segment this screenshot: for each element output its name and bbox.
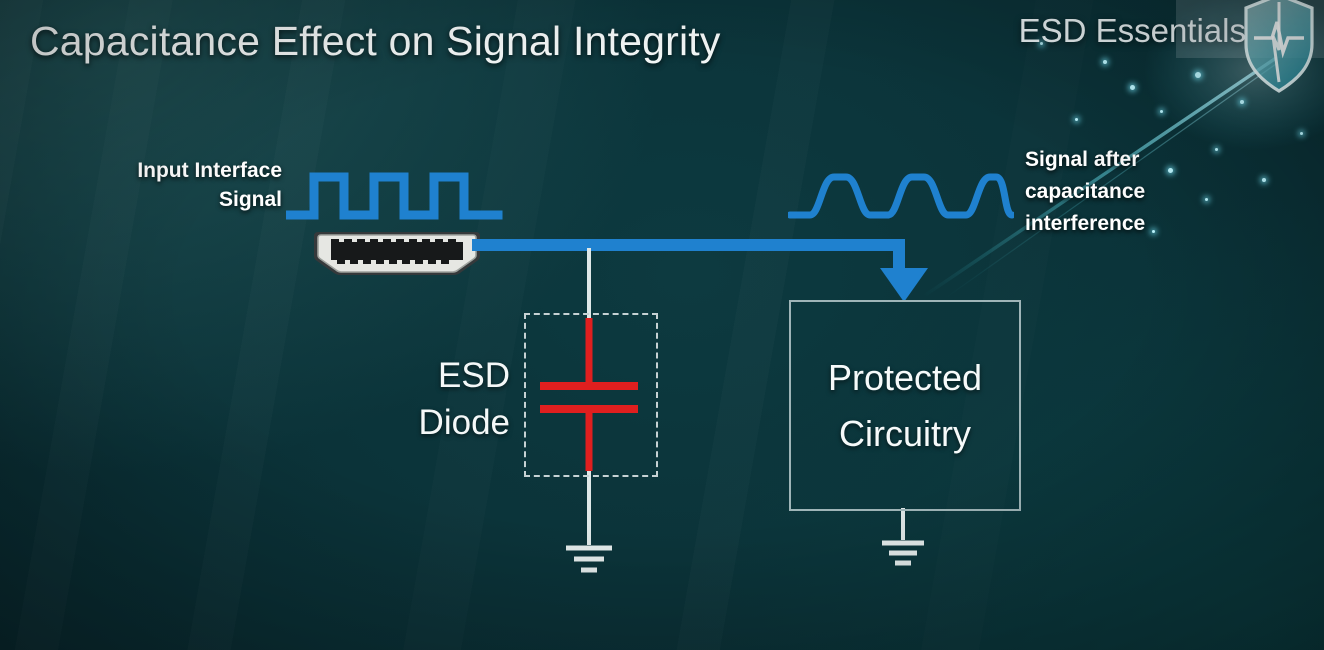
esd-diode-label-line1: ESD (380, 352, 510, 399)
ground-symbol-icon (882, 543, 924, 563)
protected-circuitry-box: Protected Circuitry (789, 300, 1021, 511)
particle-dot (1160, 110, 1163, 113)
hdmi-connector-icon (310, 228, 484, 280)
square-wave-icon (286, 165, 512, 227)
particle-dot (1195, 72, 1201, 78)
particle-dot (1075, 118, 1078, 121)
input-signal-label: Input Interface Signal (52, 156, 282, 214)
input-signal-label-line1: Input Interface (52, 156, 282, 185)
slide-canvas: Capacitance Effect on Signal Integrity E… (0, 0, 1324, 650)
circuit-wiring (0, 0, 1324, 650)
background-texture (0, 0, 1324, 650)
output-signal-label-line2: capacitance (1025, 176, 1255, 208)
protected-circuitry-line1: Protected (828, 350, 982, 406)
vignette-overlay (0, 0, 1324, 650)
output-signal-label-line1: Signal after (1025, 144, 1255, 176)
page-title: Capacitance Effect on Signal Integrity (30, 18, 721, 65)
esd-diode-label: ESD Diode (380, 352, 510, 446)
esd-diode-box (524, 313, 658, 477)
protected-circuitry-label: Protected Circuitry (828, 350, 982, 462)
brand-label: ESD Essentials (1019, 12, 1246, 50)
particle-dot (1240, 100, 1244, 104)
output-signal-label-line3: interference (1025, 208, 1255, 240)
ground-symbol-icon (566, 548, 612, 570)
shield-pulse-icon (1240, 0, 1318, 98)
protected-circuitry-line2: Circuitry (828, 406, 982, 462)
input-signal-label-line2: Signal (52, 185, 282, 214)
particle-dot (1103, 60, 1107, 64)
particle-dot (1130, 85, 1135, 90)
output-signal-label: Signal after capacitance interference (1025, 144, 1255, 240)
esd-diode-label-line2: Diode (380, 399, 510, 446)
particle-dot (1262, 178, 1266, 182)
particle-dot (1300, 132, 1303, 135)
rounded-wave-icon (788, 165, 1014, 227)
